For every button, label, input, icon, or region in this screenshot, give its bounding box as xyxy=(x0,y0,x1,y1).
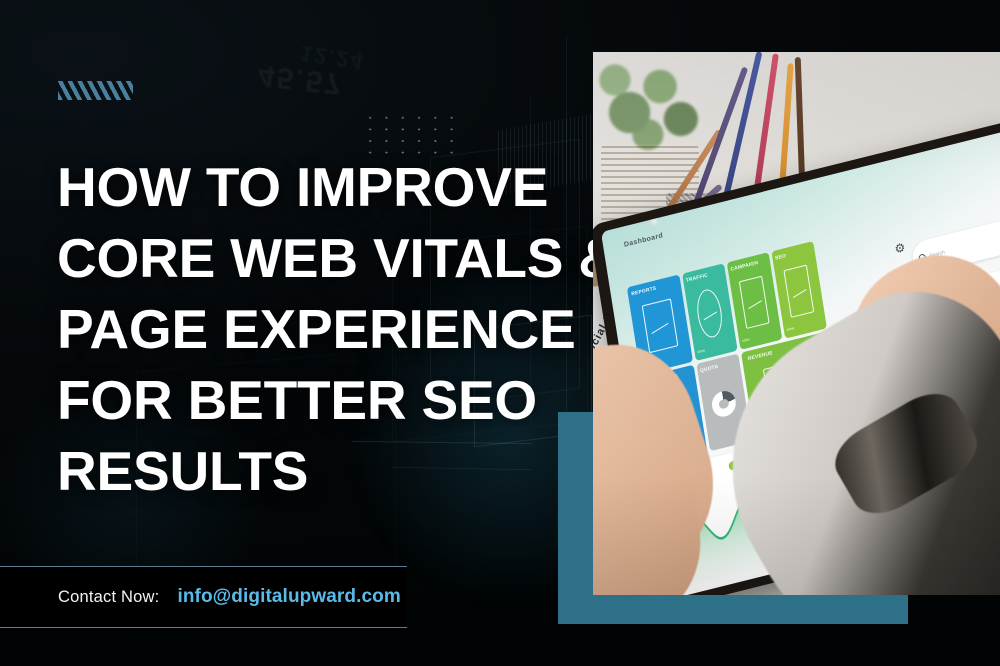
page-title: HOW TO IMPROVE CORE WEB VITALS & PAGE EX… xyxy=(57,152,577,507)
tile-label: REVENUE xyxy=(748,351,774,363)
banner-canvas: 45.57 12.24 HOW TO IMPROVE CORE WEB VITA… xyxy=(0,0,1000,666)
monitor-chart-icon xyxy=(642,299,679,353)
diagonal-stripes-icon xyxy=(58,81,133,100)
tile-label: SEO xyxy=(775,253,787,262)
gear-icon[interactable]: ⚙ xyxy=(894,241,908,256)
dashboard-title: Dashboard xyxy=(624,233,664,250)
headline-line-4: FOR BETTER SEO xyxy=(57,365,577,436)
tile-label: CAMPAIGN xyxy=(730,260,759,273)
target-icon xyxy=(695,288,726,341)
headline-line-5: RESULTS xyxy=(57,436,577,507)
contact-email-link[interactable]: info@digitalupward.com xyxy=(177,586,400,608)
tile-label: REPORTS xyxy=(631,286,657,298)
tile-sub: view xyxy=(787,326,796,333)
tile-sub: view xyxy=(742,337,751,344)
document-icon xyxy=(784,265,815,318)
headline-line-1: HOW TO IMPROVE xyxy=(57,152,577,223)
tile-sub: view xyxy=(697,348,706,355)
contact-bar: Contact Now: info@digitalupward.com xyxy=(0,566,407,628)
contact-label: Contact Now: xyxy=(58,588,159,607)
hero-photo: Social Media Analysis Dashboard ⚙ Search xyxy=(593,52,1000,595)
tile-label: TRAFFIC xyxy=(686,273,709,284)
headline-line-3: PAGE EXPERIENCE xyxy=(57,294,577,365)
headline-line-2: CORE WEB VITALS & xyxy=(57,223,577,294)
chat-chart-icon xyxy=(739,276,770,329)
photo-scene: Social Media Analysis Dashboard ⚙ Search xyxy=(593,52,1000,595)
tile-label: QUOTA xyxy=(700,364,719,374)
front-camera-icon xyxy=(650,216,660,227)
pie-chart-icon xyxy=(711,389,738,419)
